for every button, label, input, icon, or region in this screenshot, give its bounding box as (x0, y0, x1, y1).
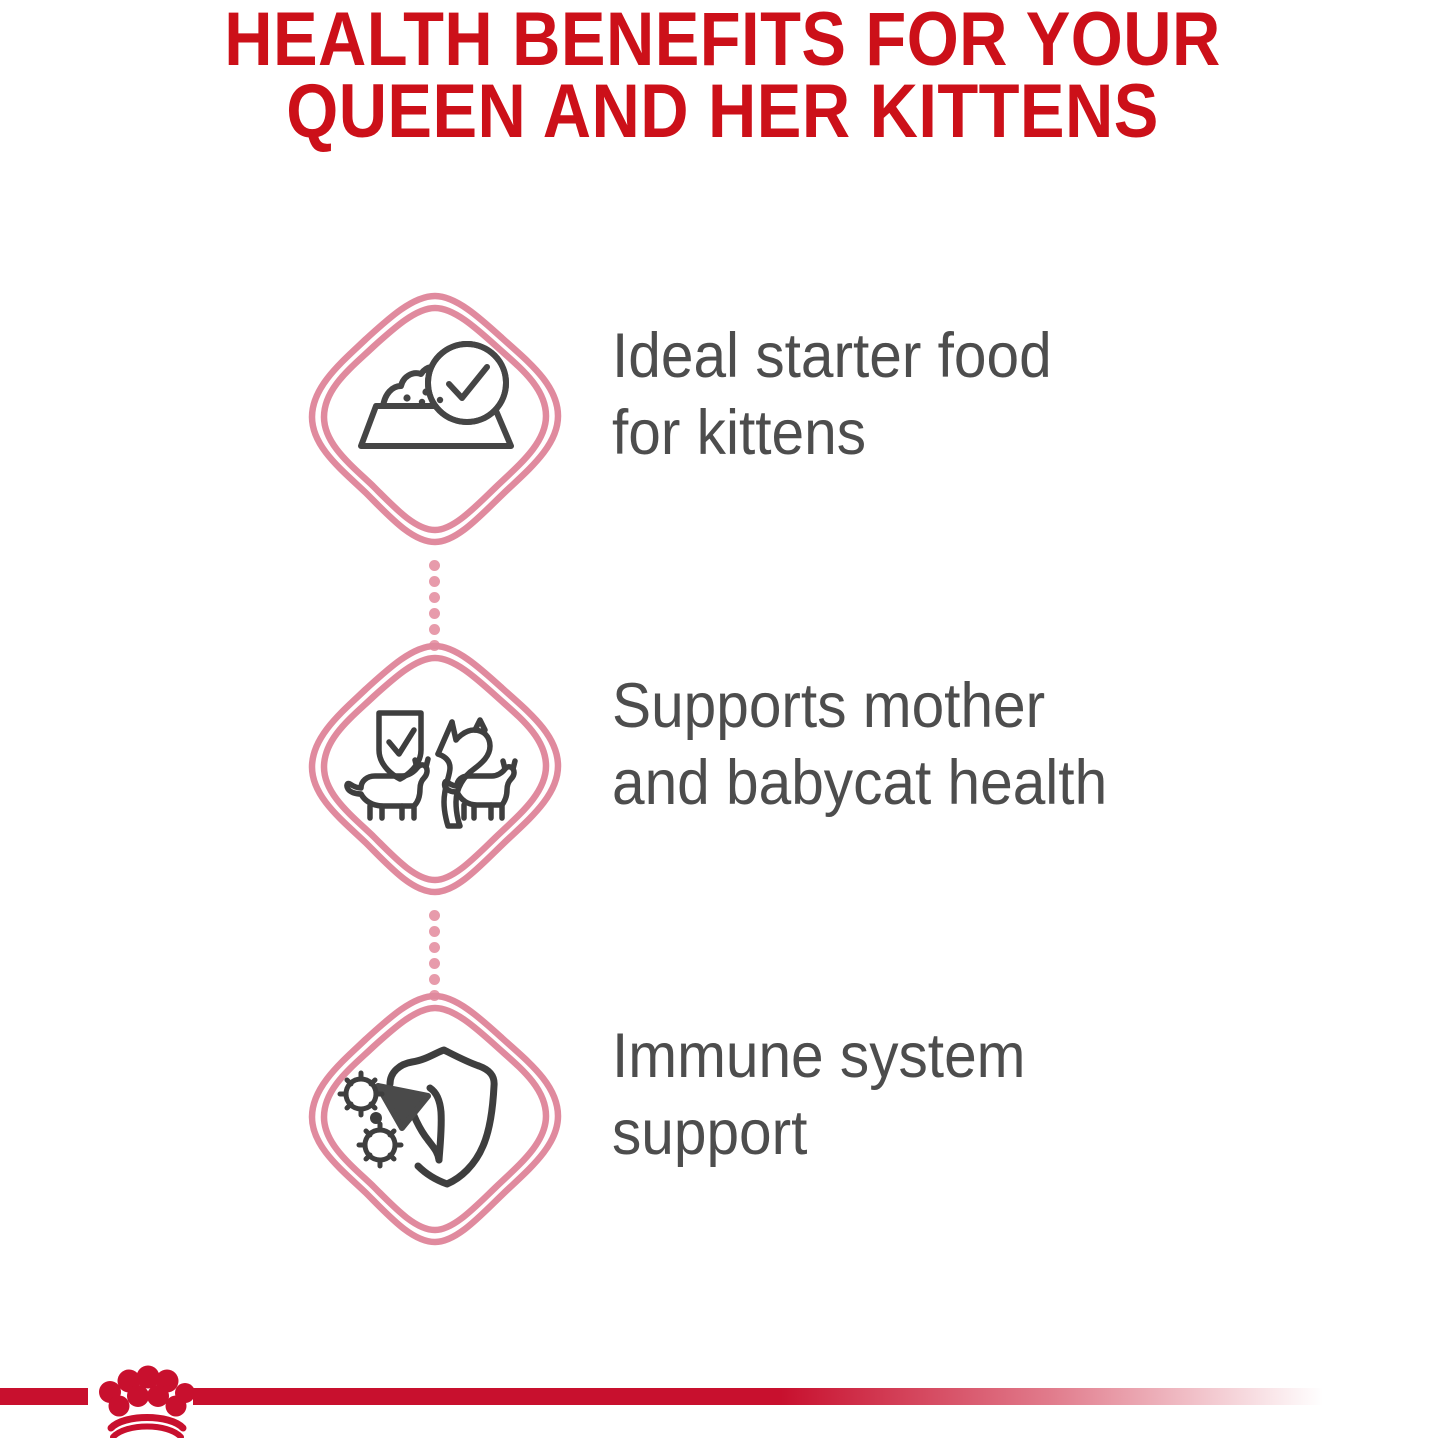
page-title-line-1: HEALTH BENEFITS FOR YOUR (87, 4, 1359, 76)
benefit-label-mother-health: Supports mother and babycat health (612, 668, 1382, 822)
brand-rule-left (0, 1388, 88, 1405)
connector-dot (429, 910, 440, 921)
benefit-label-starter-food: Ideal starter food for kittens (612, 318, 1382, 472)
footer-brand-bar (0, 1368, 1445, 1438)
benefit-label-immune-support: Immune system support (612, 1018, 1382, 1172)
connector-dot (429, 974, 440, 985)
royal-canin-crown-icon (96, 1348, 196, 1438)
page-title: HEALTH BENEFITS FOR YOUR QUEEN AND HER K… (0, 0, 1445, 148)
benefit-label-line-1: Supports mother (612, 668, 1328, 745)
connector-dot (429, 608, 440, 619)
mother-cat-kittens-shield-icon (304, 638, 566, 900)
benefit-label-line-2: for kittens (612, 395, 1328, 472)
connector-dot (429, 560, 440, 571)
benefit-label-line-1: Ideal starter food (612, 318, 1328, 395)
shield-germs-blocked-icon (304, 988, 566, 1250)
connector-dot (429, 958, 440, 969)
benefit-item-mother-health: Supports mother and babycat health (0, 638, 1445, 988)
food-bowl-check-icon (304, 288, 566, 550)
benefit-label-line-2: and babycat health (612, 745, 1328, 822)
benefit-label-line-1: Immune system (612, 1018, 1328, 1095)
brand-rule-right (193, 1388, 1323, 1405)
connector-dot (429, 926, 440, 937)
page-title-line-2: QUEEN AND HER KITTENS (87, 76, 1359, 148)
benefit-item-starter-food: Ideal starter food for kittens (0, 288, 1445, 638)
benefits-list: Ideal starter food for kittens (0, 288, 1445, 1338)
connector-dot (429, 942, 440, 953)
benefit-item-immune-support: Immune system support (0, 988, 1445, 1338)
connector-dot (429, 592, 440, 603)
benefit-label-line-2: support (612, 1095, 1328, 1172)
connector-dot (429, 576, 440, 587)
connector-dot (429, 624, 440, 635)
